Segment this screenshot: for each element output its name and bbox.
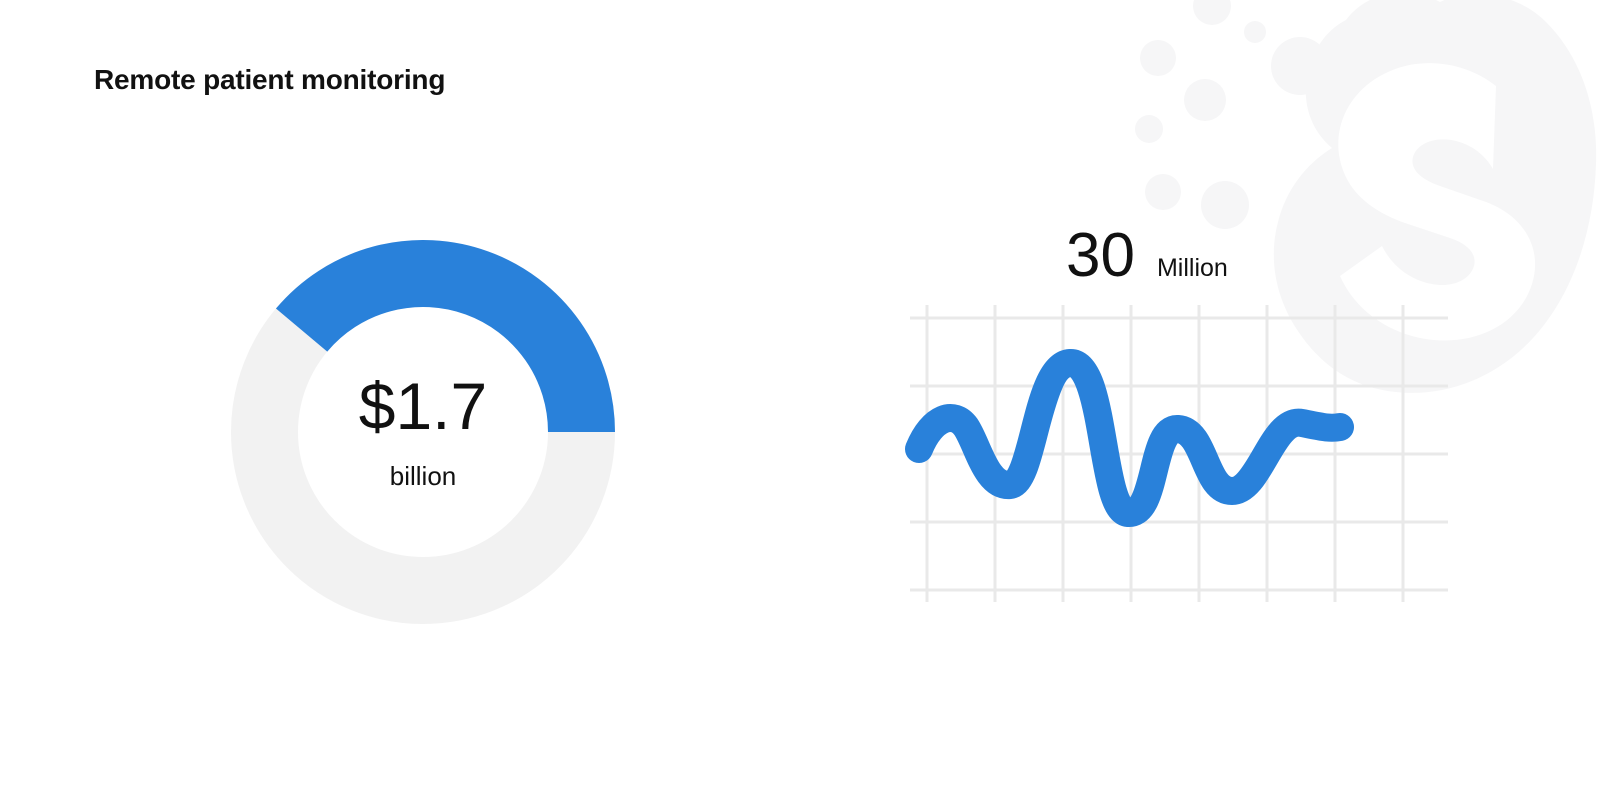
- watermark-bubble: [1271, 37, 1329, 95]
- sparkline-value: 30: [1066, 225, 1135, 287]
- donut-value-arc: [302, 274, 582, 432]
- stat-donut-market-size: $1.7 billion: [231, 240, 615, 624]
- page-title: Remote patient monitoring: [94, 64, 445, 96]
- sparkline-unit: Million: [1157, 254, 1228, 283]
- sparkline-chart: [910, 305, 1455, 605]
- watermark-bubble: [1145, 174, 1181, 210]
- slide-canvas: Remote patient monitoring $1.7 billion 3…: [0, 0, 1600, 800]
- sparkline-headline: 30 Million: [1066, 225, 1228, 287]
- watermark-bubble: [1201, 181, 1249, 229]
- donut-chart: [231, 240, 615, 624]
- stat-sparkline-patients: 30 Million: [900, 225, 1460, 615]
- sparkline-svg: [910, 305, 1455, 605]
- watermark-bubble: [1140, 40, 1176, 76]
- watermark-bubble: [1135, 115, 1163, 143]
- watermark-bubble: [1184, 79, 1226, 121]
- watermark-bubble: [1244, 21, 1266, 43]
- watermark-bubble: [1193, 0, 1231, 25]
